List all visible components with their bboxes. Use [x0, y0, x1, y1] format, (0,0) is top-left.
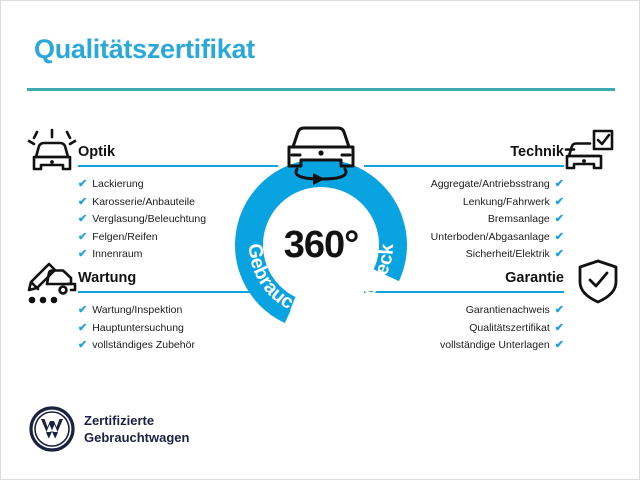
check-icon: ✔ — [555, 231, 564, 243]
car-shine-icon — [25, 127, 79, 177]
check-icon: ✔ — [78, 196, 87, 208]
check-icon: ✔ — [78, 248, 87, 260]
service-pen-car-icon — [23, 257, 77, 307]
check-icon: ✔ — [78, 231, 87, 243]
list-item-label: Felgen/Reifen — [92, 231, 157, 243]
list-item-label: Lackierung — [92, 178, 143, 190]
list-item-label: Lenkung/Fahrwerk — [463, 196, 550, 208]
header-divider — [27, 88, 615, 91]
page-title: Qualitätszertifikat — [34, 34, 255, 65]
check-icon: ✔ — [555, 339, 564, 351]
check-icon: ✔ — [555, 213, 564, 225]
footer-line-2: Gebrauchtwagen — [84, 429, 189, 446]
check-icon: ✔ — [555, 322, 564, 334]
quality-certificate-page: Qualitätszertifikat Optik ✔Lackierung ✔K… — [0, 0, 640, 480]
car-checkbox-icon — [561, 127, 615, 177]
list-item-label: Hauptuntersuchung — [92, 322, 184, 334]
list-item: vollständige Unterlagen✔ — [364, 337, 564, 355]
check-icon: ✔ — [78, 213, 87, 225]
list-item-label: Bremsanlage — [488, 213, 550, 225]
check-icon: ✔ — [78, 339, 87, 351]
list-item: ✔vollständiges Zubehör — [78, 337, 278, 355]
check-icon: ✔ — [555, 248, 564, 260]
list-item-label: Garantienachweis — [466, 304, 550, 316]
check-icon: ✔ — [555, 196, 564, 208]
check-icon: ✔ — [555, 304, 564, 316]
footer-line-1: Zertifizierte — [84, 412, 189, 429]
check-icon: ✔ — [78, 304, 87, 316]
list-item-label: Verglasung/Beleuchtung — [92, 213, 206, 225]
list-item-label: Karosserie/Anbauteile — [92, 196, 195, 208]
vw-logo — [29, 406, 75, 452]
footer-brand-text: Zertifizierte Gebrauchtwagen — [84, 412, 189, 446]
check-icon: ✔ — [78, 178, 87, 190]
car-rotate-360-icon — [267, 121, 375, 187]
list-item-label: vollständiges Zubehör — [92, 339, 195, 351]
list-item-label: Innenraum — [92, 248, 142, 260]
list-item-label: Unterboden/Abgasanlage — [431, 231, 550, 243]
shield-check-icon — [571, 257, 625, 307]
list-item-label: Wartung/Inspektion — [92, 304, 182, 316]
check-icon: ✔ — [78, 322, 87, 334]
list-item-label: vollständige Unterlagen — [440, 339, 550, 351]
list-item-label: Sicherheit/Elektrik — [466, 248, 550, 260]
list-item-label: Aggregate/Antriebsstrang — [431, 178, 550, 190]
check-icon: ✔ — [555, 178, 564, 190]
list-item-label: Qualitätszertifikat — [469, 322, 550, 334]
